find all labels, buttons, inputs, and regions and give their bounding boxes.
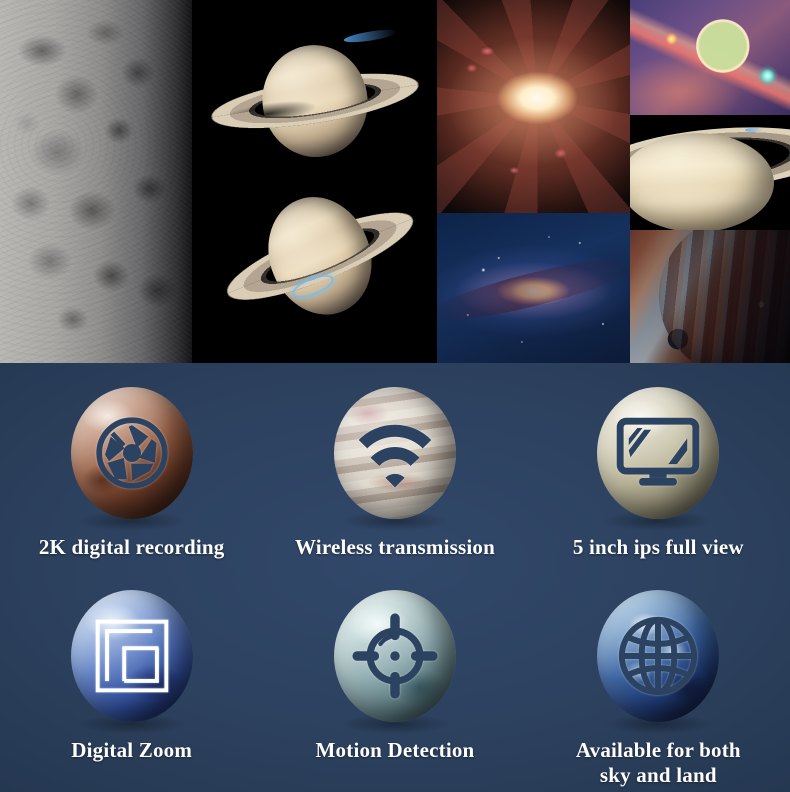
feature-icon-wrap bbox=[597, 590, 719, 722]
feature-icon-wrap bbox=[334, 387, 456, 519]
jupiter-texture bbox=[630, 230, 790, 363]
jupiter-sphere bbox=[334, 387, 456, 519]
astrophotography-sample-gallery bbox=[0, 0, 790, 363]
feature-icon-wrap bbox=[334, 590, 456, 722]
moon-grain-overlay bbox=[0, 0, 192, 363]
saturn-closeup-body bbox=[630, 133, 774, 230]
feature-row-2: Digital Zoom bbox=[0, 590, 790, 788]
feature-label: 5 inch ips full view bbox=[573, 535, 744, 560]
feature-wireless-transmission[interactable]: Wireless transmission bbox=[263, 387, 526, 560]
saturn-closeup-photo[interactable] bbox=[630, 115, 790, 230]
feature-2k-digital-recording[interactable]: 2K digital recording bbox=[0, 387, 263, 560]
feature-label: Digital Zoom bbox=[71, 738, 192, 763]
ice-sphere bbox=[334, 590, 456, 722]
nebula-eclipse-photo[interactable] bbox=[630, 0, 790, 115]
feature-label: Wireless transmission bbox=[295, 535, 495, 560]
saturn-closeup-texture bbox=[630, 115, 790, 230]
feature-icon-wrap bbox=[71, 387, 193, 519]
jupiter-moon-photo[interactable] bbox=[630, 230, 790, 363]
product-feature-page: 2K digital recording bbox=[0, 0, 790, 792]
spiral-galaxy-texture bbox=[437, 0, 630, 213]
feature-label: Available for both sky and land bbox=[576, 738, 741, 788]
deep-space-column bbox=[630, 0, 790, 363]
saturn-photo-bottom bbox=[201, 154, 437, 359]
pluto-sphere bbox=[71, 387, 193, 519]
feature-row-1: 2K digital recording bbox=[0, 387, 790, 560]
feature-icon-wrap bbox=[71, 590, 193, 722]
feature-motion-detection[interactable]: Motion Detection bbox=[263, 590, 526, 788]
neptune-sphere bbox=[71, 590, 193, 722]
saturn-photo-top bbox=[201, 20, 429, 181]
feature-5-inch-ips-full-view[interactable]: 5 inch ips full view bbox=[527, 387, 790, 560]
titan-sphere bbox=[597, 387, 719, 519]
feature-grid: 2K digital recording bbox=[0, 363, 790, 792]
galaxy-column bbox=[437, 0, 630, 363]
saturn-aurora bbox=[343, 27, 398, 45]
feature-label: Motion Detection bbox=[316, 738, 475, 763]
andromeda-texture bbox=[437, 213, 630, 363]
spiral-galaxy-photo[interactable] bbox=[437, 0, 630, 213]
feature-icon-wrap bbox=[597, 387, 719, 519]
feature-label: 2K digital recording bbox=[39, 535, 225, 560]
saturn-column bbox=[192, 0, 437, 363]
moon-column bbox=[0, 0, 192, 363]
feature-available-sky-and-land[interactable]: Available for both sky and land bbox=[527, 590, 790, 788]
feature-digital-zoom[interactable]: Digital Zoom bbox=[0, 590, 263, 788]
saturn-photo-panel[interactable] bbox=[192, 0, 437, 363]
nebula-eclipse-texture bbox=[630, 0, 790, 115]
andromeda-galaxy-photo[interactable] bbox=[437, 213, 630, 363]
moon-surface-photo[interactable] bbox=[0, 0, 192, 363]
earth-sphere bbox=[597, 590, 719, 722]
